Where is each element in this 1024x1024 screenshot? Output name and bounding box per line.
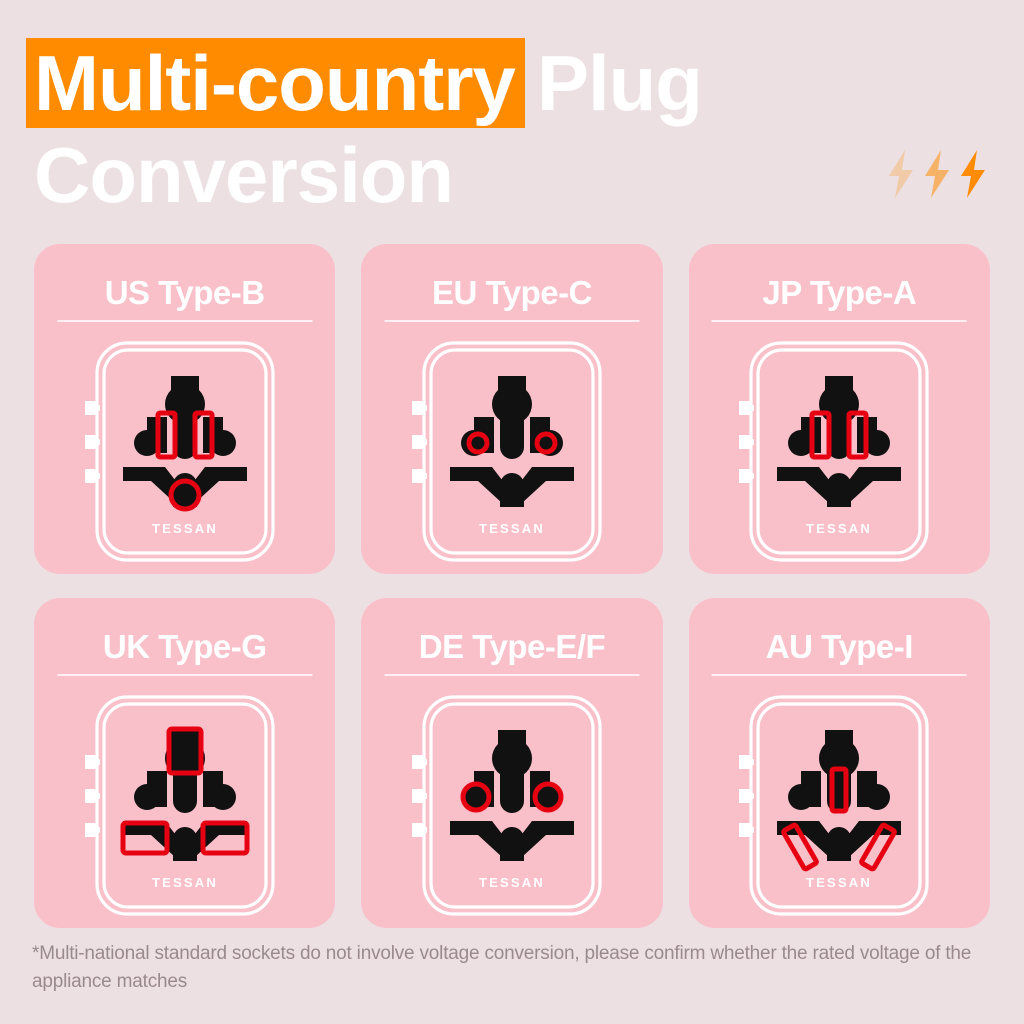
universal-socket-icon: TESSAN [85,339,285,564]
lightning-bolts-group [870,143,990,205]
plug-card-title: US Type-B [34,274,335,312]
svg-text:TESSAN: TESSAN [806,521,872,536]
plug-card-us-type-b[interactable]: US Type-B [34,244,335,574]
universal-socket-icon: TESSAN [412,339,612,564]
plug-card-jp-type-a[interactable]: JP Type-A [689,244,990,574]
card-title-divider [712,320,967,322]
lightning-bolt-icon [884,149,918,199]
universal-socket-icon: TESSAN [739,693,939,918]
title-highlight: Multi-country [26,38,525,128]
svg-text:TESSAN: TESSAN [152,875,218,890]
page-title-line-2: Conversion [34,130,453,220]
svg-text:TESSAN: TESSAN [152,521,218,536]
plug-card-eu-type-c[interactable]: EU Type-C [361,244,662,574]
card-title-divider [384,674,639,676]
card-title-divider [57,674,312,676]
plug-card-title: DE Type-E/F [361,628,662,666]
universal-socket-icon: TESSAN [412,693,612,918]
svg-text:TESSAN: TESSAN [806,875,872,890]
lightning-bolt-icon [920,149,954,199]
plug-card-title: JP Type-A [689,274,990,312]
plug-card-de-type-e-f[interactable]: DE Type-E/F [361,598,662,928]
card-title-divider [384,320,639,322]
card-title-divider [712,674,967,676]
plug-card-title: EU Type-C [361,274,662,312]
plug-card-uk-type-g[interactable]: UK Type-G [34,598,335,928]
universal-socket-icon: TESSAN [85,693,285,918]
plug-type-grid: US Type-B [34,244,990,928]
page-header: Multi-countryPlug Conversion [0,0,1024,230]
plug-card-title: AU Type-I [689,628,990,666]
page-title-line-1: Multi-countryPlug [34,38,702,128]
title-rest: Plug [525,38,702,128]
svg-text:TESSAN: TESSAN [479,875,545,890]
plug-card-title: UK Type-G [34,628,335,666]
svg-text:TESSAN: TESSAN [479,521,545,536]
universal-socket-icon: TESSAN [739,339,939,564]
plug-card-au-type-i[interactable]: AU Type-I [689,598,990,928]
card-title-divider [57,320,312,322]
lightning-bolt-icon [956,149,990,199]
footer-disclaimer: *Multi-national standard sockets do not … [32,940,992,996]
